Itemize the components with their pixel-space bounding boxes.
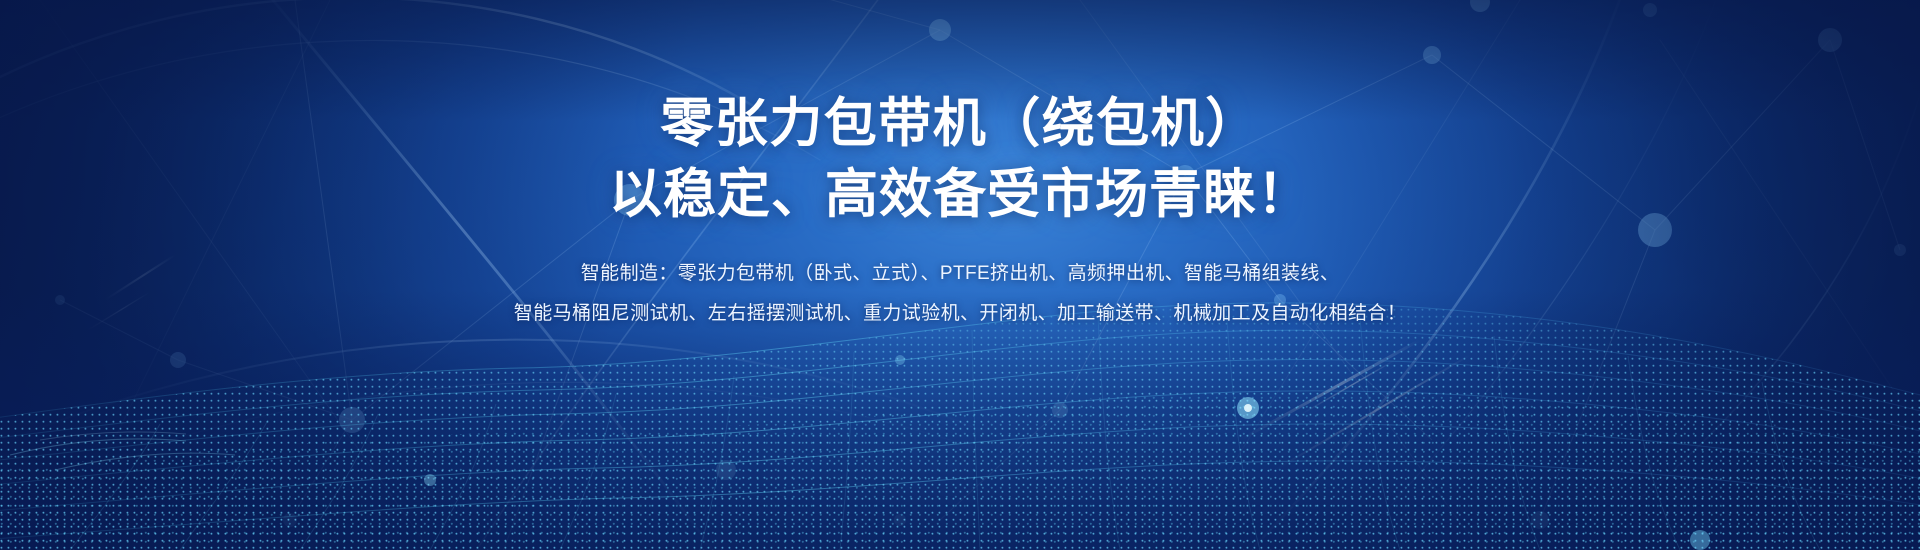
title-line-1: 零张力包带机（绕包机） [0, 92, 1920, 157]
banner-content: 零张力包带机（绕包机） 以稳定、高效备受市场青睐！ 智能制造：零张力包带机（卧式… [0, 0, 1920, 334]
banner-subtitle: 智能制造：零张力包带机（卧式、立式）、PTFE挤出机、高频押出机、智能马桶组装线… [0, 254, 1920, 334]
banner-title: 零张力包带机（绕包机） 以稳定、高效备受市场青睐！ [0, 0, 1920, 227]
tech-banner: 零张力包带机（绕包机） 以稳定、高效备受市场青睐！ 智能制造：零张力包带机（卧式… [0, 0, 1920, 550]
title-line-2: 以稳定、高效备受市场青睐！ [0, 163, 1920, 228]
subtitle-line-2: 智能马桶阻尼测试机、左右摇摆测试机、重力试验机、开闭机、加工输送带、机械加工及自… [0, 294, 1920, 334]
subtitle-line-1: 智能制造：零张力包带机（卧式、立式）、PTFE挤出机、高频押出机、智能马桶组装线… [0, 254, 1920, 294]
